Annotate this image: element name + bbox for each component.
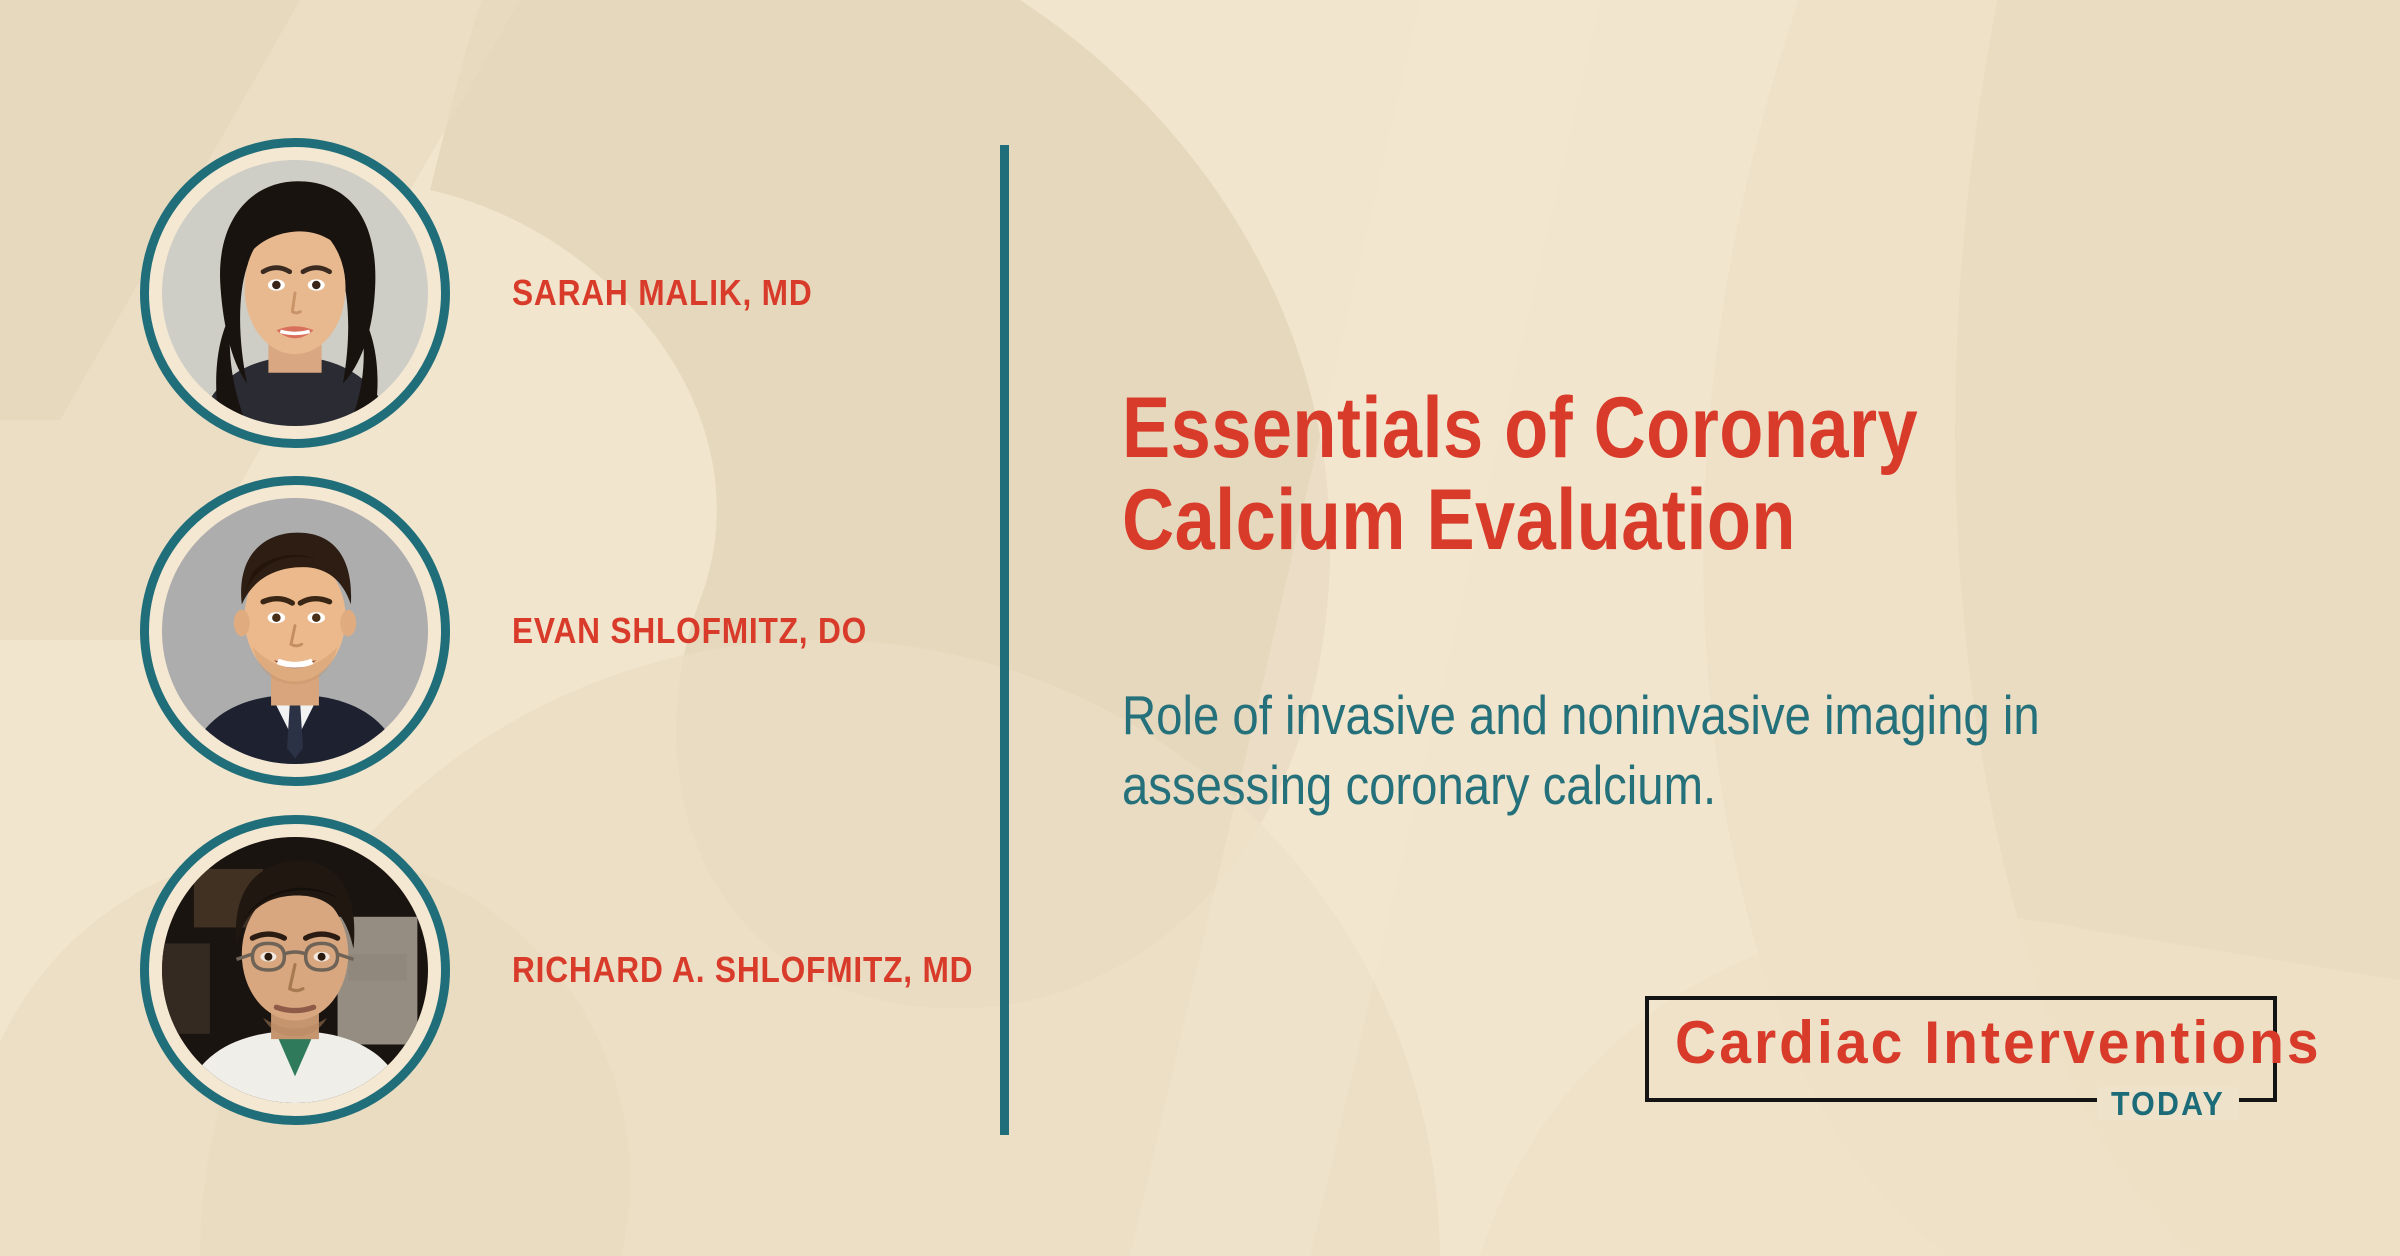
- page-title-line-2: Calcium Evaluation: [1122, 474, 1962, 566]
- speaker-item[interactable]: SARAH MALIK, MD: [0, 128, 1000, 458]
- vertical-divider: [1000, 145, 1009, 1135]
- page-subtitle-line-2: assessing coronary calcium.: [1122, 750, 2025, 820]
- speaker-item[interactable]: RICHARD A. SHLOFMITZ, MD: [0, 805, 1000, 1135]
- brand-logo-today-wrap: TODAY: [2097, 1087, 2239, 1120]
- avatar: [140, 476, 450, 786]
- avatar: [140, 138, 450, 448]
- brand-logo-name: Cardiac Interventions: [1675, 1008, 2322, 1077]
- page-subtitle: Role of invasive and noninvasive imaging…: [1122, 680, 2025, 821]
- speaker-name: RICHARD A. SHLOFMITZ, MD: [512, 952, 973, 988]
- portrait-richard-shlofmitz: [162, 837, 428, 1103]
- brand-logo[interactable]: Cardiac Interventions TODAY: [1645, 996, 2277, 1102]
- promo-banner: SARAH MALIK, MD: [0, 0, 2400, 1256]
- speaker-item[interactable]: EVAN SHLOFMITZ, DO: [0, 466, 1000, 796]
- speaker-name: EVAN SHLOFMITZ, DO: [512, 613, 867, 649]
- brand-logo-today: TODAY: [2111, 1087, 2225, 1120]
- speaker-list: SARAH MALIK, MD: [0, 0, 1000, 1256]
- portrait-sarah-malik: [162, 160, 428, 426]
- portrait-evan-shlofmitz: [162, 498, 428, 764]
- speaker-name: SARAH MALIK, MD: [512, 275, 813, 311]
- page-subtitle-line-1: Role of invasive and noninvasive imaging…: [1122, 680, 2025, 750]
- page-title-line-1: Essentials of Coronary: [1122, 382, 1962, 474]
- page-title: Essentials of Coronary Calcium Evaluatio…: [1122, 382, 1962, 566]
- avatar: [140, 815, 450, 1125]
